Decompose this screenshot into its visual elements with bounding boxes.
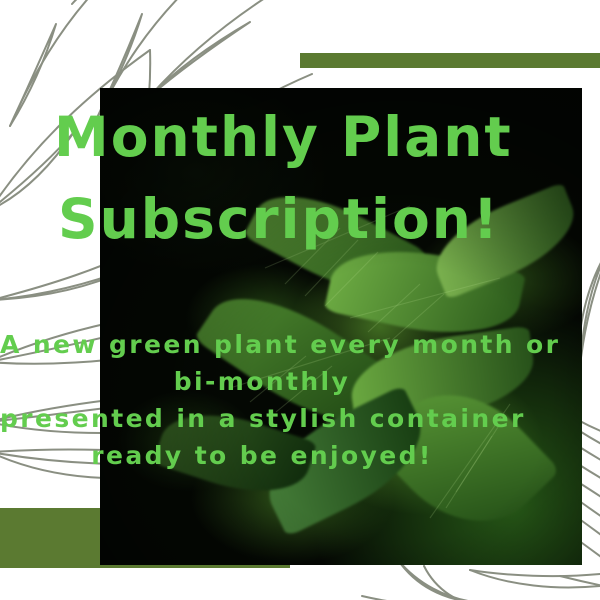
headline-line-2: Subscription! bbox=[54, 178, 554, 260]
body-copy: A new green plant every month or bi-mont… bbox=[0, 326, 524, 474]
body-line-3: presented in a stylish container bbox=[0, 400, 524, 437]
headline-line-1: Monthly Plant bbox=[54, 96, 554, 178]
body-line-2: bi-monthly bbox=[0, 363, 524, 400]
olive-accent-bar-top bbox=[300, 53, 600, 68]
body-line-4: ready to be enjoyed! bbox=[0, 437, 524, 474]
poster-canvas: Monthly Plant Subscription! A new green … bbox=[0, 0, 600, 600]
body-line-1: A new green plant every month or bbox=[0, 326, 524, 363]
page-title: Monthly Plant Subscription! bbox=[54, 96, 554, 260]
